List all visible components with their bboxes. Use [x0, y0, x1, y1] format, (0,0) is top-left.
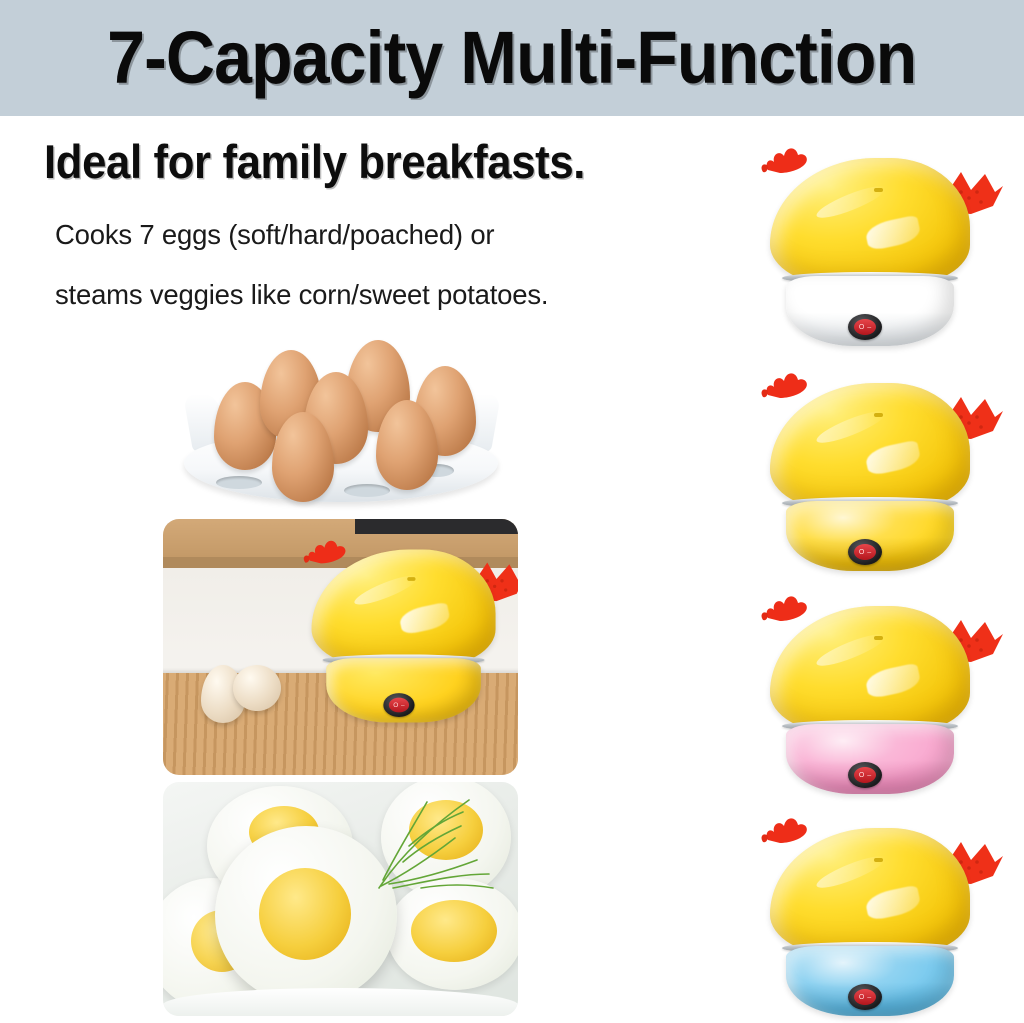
egg-yolk [411, 900, 497, 962]
product-variant-1[interactable]: O – [752, 140, 987, 352]
comb-icon [760, 361, 812, 399]
cooker-lid [770, 158, 970, 286]
steam-vent [874, 858, 883, 862]
power-switch[interactable]: O – [848, 984, 882, 1010]
switch-label-on: – [867, 772, 871, 779]
lid-highlight [398, 602, 452, 636]
power-switch[interactable]: O – [848, 762, 882, 788]
product-variant-3[interactable]: O – [752, 588, 987, 800]
switch-label-off: O [859, 549, 864, 556]
power-switch-rocker[interactable]: O – [854, 989, 876, 1005]
switch-label-on: – [867, 994, 871, 1001]
egg-tray-illustration [176, 334, 506, 514]
lid-highlight [864, 663, 922, 700]
tray-slot [344, 484, 390, 497]
cooker-lid [312, 550, 496, 668]
product-variant-2[interactable]: O – [752, 365, 987, 577]
cooker-lid [770, 606, 970, 734]
body-copy: Cooks 7 eggs (soft/hard/poached) or stea… [55, 205, 675, 325]
lid-highlight [864, 215, 922, 252]
lid-highlight [864, 440, 922, 477]
steam-vent [874, 188, 883, 192]
switch-label-off: O [859, 324, 864, 331]
switch-label-off: O [393, 702, 398, 708]
switch-label-on: – [867, 324, 871, 331]
power-switch-rocker[interactable]: O – [854, 544, 876, 560]
cooker-lid [770, 828, 970, 956]
lid-highlight [864, 885, 922, 922]
page-headline: 7-Capacity Multi-Function [107, 21, 916, 95]
power-switch-rocker[interactable]: O – [854, 319, 876, 335]
comb-icon [760, 584, 812, 622]
comb-icon [302, 529, 350, 564]
body-line-2: steams veggies like corn/sweet potatoes. [55, 265, 675, 325]
photo-cooker: O – [295, 533, 511, 728]
subheadline: Ideal for family breakfasts. [44, 134, 585, 189]
steam-vent [407, 577, 415, 581]
product-variant-4[interactable]: O – [752, 810, 987, 1022]
lifestyle-photo-cooker-on-bamboo-mat: O – [163, 519, 518, 775]
comb-icon [760, 136, 812, 174]
power-switch[interactable]: O – [848, 314, 882, 340]
power-switch[interactable]: O – [848, 539, 882, 565]
power-switch-rocker[interactable]: O – [389, 698, 409, 713]
steam-vent [874, 636, 883, 640]
tray-slot [216, 476, 262, 489]
body-line-1: Cooks 7 eggs (soft/hard/poached) or [55, 205, 675, 265]
power-switch[interactable]: O – [383, 693, 414, 717]
dill-garnish [359, 788, 499, 898]
switch-label-off: O [859, 772, 864, 779]
comb-icon [760, 806, 812, 844]
switch-label-on: – [401, 702, 405, 708]
steam-vent [874, 413, 883, 417]
power-switch-rocker[interactable]: O – [854, 767, 876, 783]
header-band: 7-Capacity Multi-Function [0, 0, 1024, 116]
cooker-lid [770, 383, 970, 511]
switch-label-off: O [859, 994, 864, 1001]
photo-egg [233, 665, 281, 711]
photo-bowl-rim [163, 988, 518, 1016]
egg-yolk-front [259, 868, 351, 960]
switch-label-on: – [867, 549, 871, 556]
boiled-eggs-photo [163, 782, 518, 1016]
